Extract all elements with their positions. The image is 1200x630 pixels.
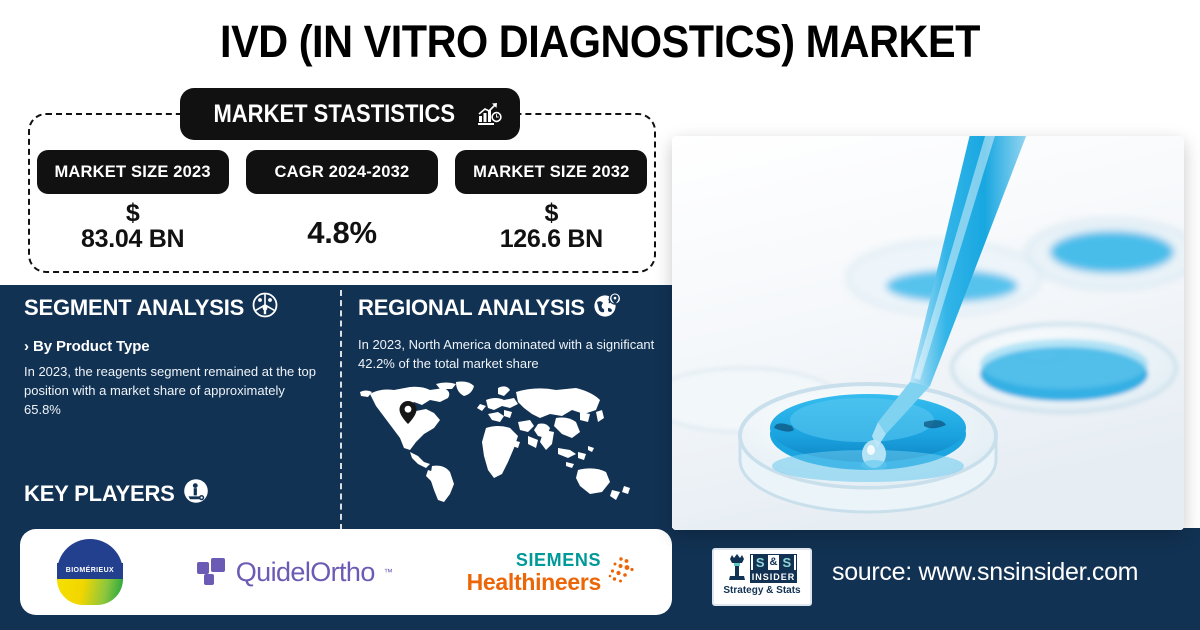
key-players-section: KEY PLAYERS bbox=[24, 478, 209, 510]
logo-biomerieux-wordmark: BIOMÉRIEUX bbox=[57, 563, 123, 578]
stat-number: 4.8% bbox=[307, 215, 376, 250]
segment-analysis-heading: SEGMENT ANALYSIS bbox=[24, 292, 334, 324]
quidelortho-mark-icon bbox=[197, 558, 227, 586]
logo-siemens-healthineers: SIEMENS Healthineers bbox=[467, 551, 635, 594]
source-url: source: www.snsinsider.com bbox=[832, 558, 1138, 587]
stat-currency: $ bbox=[37, 201, 229, 227]
logo-quidelortho-tm: ™ bbox=[384, 567, 393, 577]
key-players-heading-label: KEY PLAYERS bbox=[24, 481, 175, 507]
regional-analysis-heading-label: REGIONAL ANALYSIS bbox=[358, 295, 585, 321]
brand-ampersand: & bbox=[770, 556, 778, 568]
segment-analysis-heading-label: SEGMENT ANALYSIS bbox=[24, 295, 244, 321]
world-map bbox=[352, 378, 652, 506]
stat-number: 126.6 BN bbox=[500, 225, 603, 253]
segment-pie-icon bbox=[252, 292, 278, 324]
stat-value: $ 83.04 BN bbox=[37, 201, 229, 252]
page-title: IVD (IN VITRO DIAGNOSTICS) MARKET bbox=[48, 16, 1152, 68]
hero-photo bbox=[672, 136, 1184, 530]
stat-market-size-2032: MARKET SIZE 2032 $ 126.6 BN bbox=[455, 150, 647, 252]
infographic-page: IVD (IN VITRO DIAGNOSTICS) MARKET MARKET… bbox=[0, 0, 1200, 630]
segment-body-text: In 2023, the reagents segment remained a… bbox=[24, 363, 324, 420]
stat-label: MARKET SIZE 2023 bbox=[37, 150, 229, 194]
key-players-logo-card: BIOMÉRIEUX QuidelOrtho ™ SIEMENS Healthi… bbox=[20, 529, 672, 615]
section-divider bbox=[340, 290, 342, 530]
regional-analysis-section: REGIONAL ANALYSIS In 2023, North America… bbox=[358, 292, 658, 374]
brand-insider-label: INSIDER bbox=[750, 571, 797, 583]
stat-value: $ 126.6 BN bbox=[455, 201, 647, 252]
globe-pin-icon bbox=[593, 292, 621, 324]
stat-label: CAGR 2024-2032 bbox=[246, 150, 438, 194]
segment-analysis-section: SEGMENT ANALYSIS › By Product Type In 20… bbox=[24, 292, 334, 420]
speaker-person-icon bbox=[183, 478, 209, 510]
logo-quidelortho: QuidelOrtho ™ bbox=[197, 557, 393, 588]
logo-biomerieux: BIOMÉRIEUX bbox=[57, 539, 123, 605]
logo-siemens-line1: SIEMENS bbox=[467, 551, 601, 569]
stat-currency: $ bbox=[455, 201, 647, 227]
sns-insider-logo: S & S INSIDER Strategy & Stats bbox=[712, 548, 812, 606]
stat-number: 83.04 BN bbox=[81, 225, 184, 253]
regional-body-text: In 2023, North America dominated with a … bbox=[358, 336, 658, 374]
segment-subheading: › By Product Type bbox=[24, 338, 334, 355]
bar-chart-growth-icon bbox=[477, 102, 503, 126]
brand-s-right: S bbox=[779, 555, 794, 570]
logo-quidelortho-wordmark: QuidelOrtho bbox=[236, 557, 375, 588]
stat-label: MARKET SIZE 2032 bbox=[455, 150, 647, 194]
brand-s-left: S bbox=[753, 555, 768, 570]
brand-tagline: Strategy & Stats bbox=[723, 585, 800, 596]
healthineers-dots-icon bbox=[605, 555, 635, 589]
market-statistics-badge-label: MARKET STASTISTICS bbox=[213, 100, 455, 129]
market-statistics-badge: MARKET STASTISTICS bbox=[180, 88, 520, 140]
stat-cagr: CAGR 2024-2032 4.8% bbox=[246, 150, 438, 249]
chess-king-icon bbox=[727, 553, 747, 583]
stat-market-size-2023: MARKET SIZE 2023 $ 83.04 BN bbox=[37, 150, 229, 252]
market-statistics-row: MARKET SIZE 2023 $ 83.04 BN CAGR 2024-20… bbox=[28, 150, 656, 252]
regional-analysis-heading: REGIONAL ANALYSIS bbox=[358, 292, 658, 324]
logo-siemens-line2: Healthineers bbox=[467, 571, 601, 594]
stat-value: 4.8% bbox=[246, 201, 438, 249]
key-players-heading: KEY PLAYERS bbox=[24, 478, 209, 510]
